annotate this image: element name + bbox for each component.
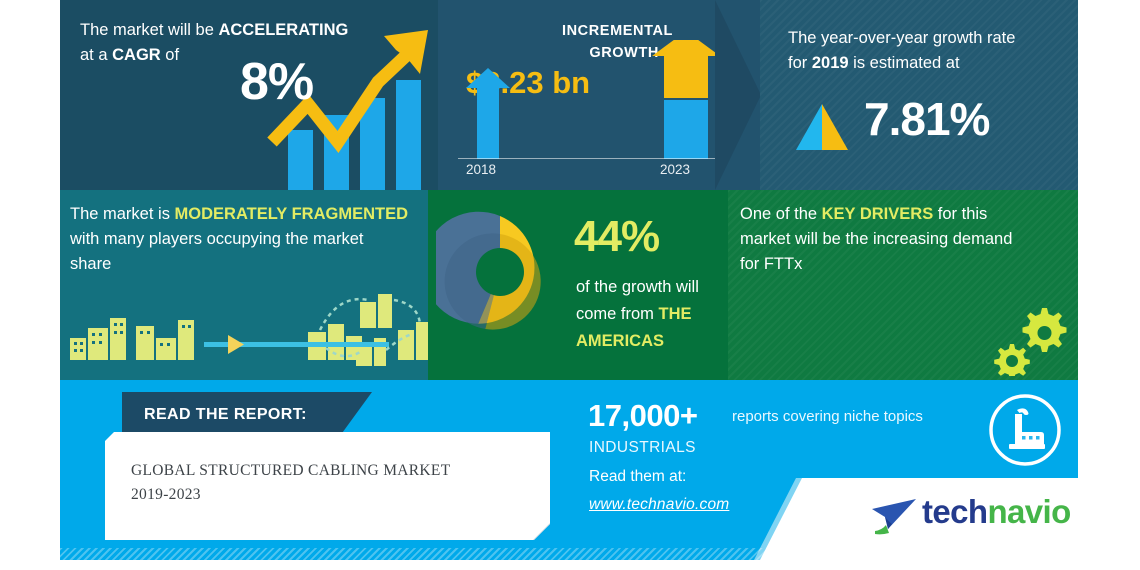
yoy-line2-pre: for	[788, 54, 812, 72]
middle-row: The market is MODERATELY FRAGMENTED with…	[60, 190, 1078, 380]
cagr-line2-bold: CAGR	[112, 46, 161, 64]
yoy-line1: The year-over-year growth rate	[788, 29, 1015, 47]
panel-key-drivers: One of the KEY DRIVERS for this market w…	[728, 190, 1078, 380]
footer-hatch-strip	[60, 548, 1078, 560]
drivers-line1-post: for this	[933, 205, 987, 223]
panel-incremental-growth: INCREMENTAL GROWTH $3.23 bn 2018 2023	[438, 0, 760, 190]
reports-category: INDUSTRIALS	[589, 439, 696, 457]
report-title: GLOBAL STRUCTURED CABLING MARKET 2019-20…	[131, 459, 531, 507]
panel-yoy-growth: The year-over-year growth rate for 2019 …	[760, 0, 1078, 190]
infographic-root: The market will be ACCELERATING at a CAG…	[60, 0, 1078, 560]
americas-caption: of the growth will come from THE AMERICA…	[576, 274, 724, 355]
americas-line1: of the growth will	[576, 278, 699, 296]
americas-line2-highlight: THE	[659, 305, 692, 323]
card-fold-corner	[533, 523, 550, 540]
report-title-line2: 2019-2023	[131, 486, 201, 503]
americas-donut-chart	[436, 208, 564, 336]
americas-percentage: 44%	[574, 212, 659, 262]
reports-caption: reports covering niche topics	[732, 408, 923, 425]
drivers-line3: for FTTx	[740, 255, 802, 273]
city-buildings-icon	[68, 290, 428, 370]
report-title-line1: GLOBAL STRUCTURED CABLING MARKET	[131, 462, 450, 479]
factory-icon	[985, 390, 1065, 470]
incremental-growth-bars	[458, 40, 728, 160]
gears-icon	[990, 304, 1070, 376]
panel-americas-share: 44% of the growth will come from THE AME…	[428, 190, 728, 380]
frag-line1-pre: The market is	[70, 205, 175, 223]
logo-text-tech: tech	[922, 493, 987, 530]
triangle-up-icon	[796, 104, 848, 150]
footer-banner: READ THE REPORT: GLOBAL STRUCTURED CABLI…	[60, 380, 1078, 560]
drivers-line1-pre: One of the	[740, 205, 822, 223]
panel-fragmentation: The market is MODERATELY FRAGMENTED with…	[60, 190, 428, 380]
read-them-at-label: Read them at:	[589, 468, 686, 486]
frag-line3: share	[70, 255, 111, 273]
panel-divider-chevron	[715, 0, 760, 190]
americas-line2-pre: come from	[576, 305, 659, 323]
report-title-card[interactable]: GLOBAL STRUCTURED CABLING MARKET 2019-20…	[105, 432, 550, 540]
incremental-axis	[458, 158, 728, 159]
cagr-line1-pre: The market will be	[80, 21, 218, 39]
panel-cagr: The market will be ACCELERATING at a CAG…	[60, 0, 438, 190]
fragmentation-statement: The market is MODERATELY FRAGMENTED with…	[70, 202, 428, 277]
top-row: The market will be ACCELERATING at a CAG…	[60, 0, 1078, 190]
incremental-year-end: 2023	[660, 162, 690, 177]
cagr-line2-pre: at a	[80, 46, 112, 64]
incremental-year-start: 2018	[466, 162, 496, 177]
technavio-wordmark: technavio	[922, 493, 1071, 531]
key-drivers-statement: One of the KEY DRIVERS for this market w…	[740, 202, 1070, 277]
yoy-value: 7.81%	[864, 92, 989, 146]
drivers-line1-highlight: KEY DRIVERS	[822, 205, 934, 223]
frag-line2: with many players occupying the market	[70, 230, 363, 248]
yoy-statement: The year-over-year growth rate for 2019 …	[788, 26, 1058, 76]
americas-line3-highlight: AMERICAS	[576, 332, 664, 350]
read-the-report-label: READ THE REPORT:	[144, 406, 307, 424]
frag-line1-highlight: MODERATELY FRAGMENTED	[175, 205, 408, 223]
technavio-logo[interactable]: technavio	[870, 492, 1078, 538]
incremental-label-line1: INCREMENTAL	[562, 23, 673, 39]
reports-count: 17,000+	[588, 398, 697, 434]
yoy-line2-bold: 2019	[812, 54, 849, 72]
technavio-url-link[interactable]: www.technavio.com	[589, 496, 729, 514]
cagr-line2-post: of	[161, 46, 179, 64]
cagr-value: 8%	[240, 52, 313, 112]
drivers-line2: market will be the increasing demand	[740, 230, 1012, 248]
technavio-paper-plane-icon	[870, 495, 918, 537]
logo-text-navio: navio	[987, 493, 1070, 530]
yoy-line2-post: is estimated at	[849, 54, 960, 72]
